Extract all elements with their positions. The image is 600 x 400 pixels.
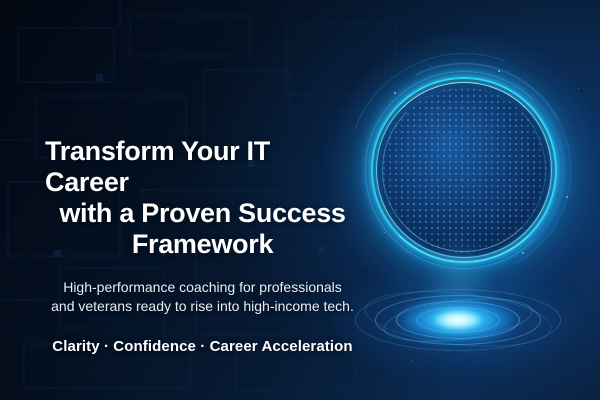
headline-line-3: Framework — [45, 229, 360, 260]
base-glow-graphic — [350, 272, 565, 368]
subheadline-line-2: and veterans ready to rise into high-inc… — [45, 297, 360, 316]
subheadline: High-performance coaching for profession… — [45, 278, 360, 316]
ring-strand-faint — [382, 88, 546, 252]
hero-banner: Transform Your IT Career with a Proven S… — [0, 0, 600, 400]
headline-line-1: Transform Your IT Career — [45, 136, 360, 198]
headline-line-2: with a Proven Success — [45, 198, 360, 229]
tagline: Clarity · Confidence · Career Accelerati… — [45, 338, 360, 355]
page-title: Transform Your IT Career with a Proven S… — [45, 136, 360, 260]
hero-copy-block: Transform Your IT Career with a Proven S… — [45, 136, 360, 355]
subheadline-line-1: High-performance coaching for profession… — [45, 278, 360, 297]
base-glow-hotspot — [435, 311, 481, 329]
